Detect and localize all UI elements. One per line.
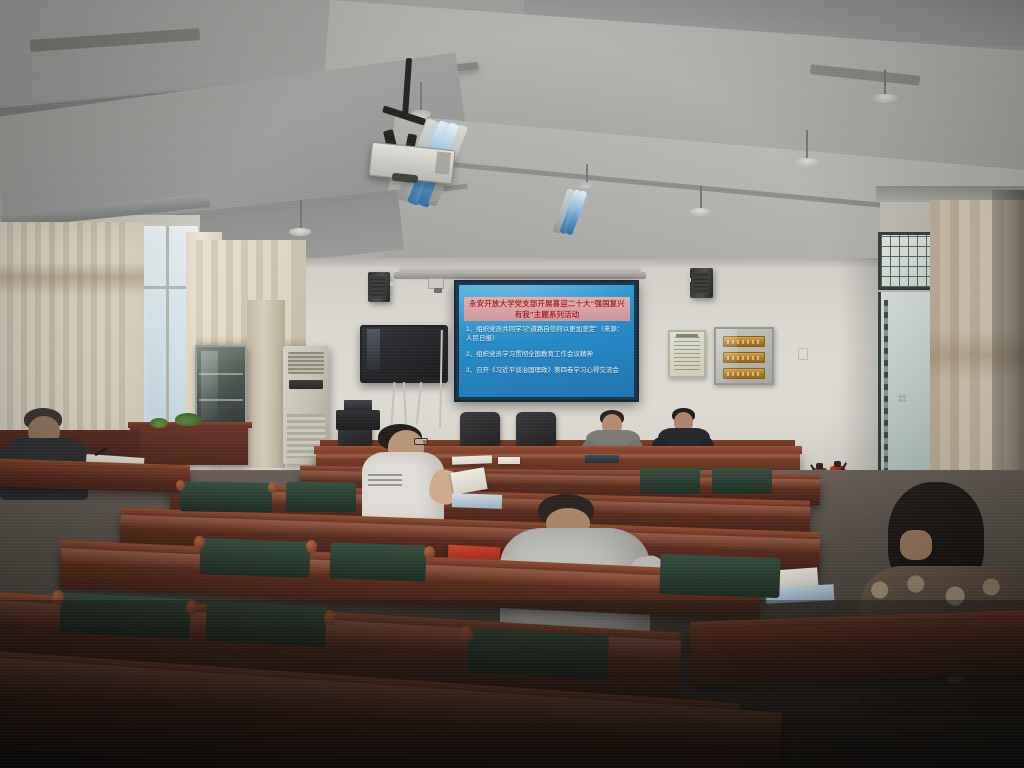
eyeglasses <box>414 438 428 445</box>
tv-glare <box>367 329 380 370</box>
light-canopy <box>872 94 898 103</box>
glass-display-cabinet[interactable] <box>195 345 247 427</box>
potted-plant <box>175 413 201 426</box>
head <box>900 530 932 560</box>
speaker-bracket <box>686 278 691 282</box>
wall-mounted-flat-screen-tv <box>360 325 448 383</box>
bench-seat-back[interactable] <box>199 538 310 578</box>
door-handle[interactable] <box>884 300 888 470</box>
slide-title: 永安开放大学党支部开展喜迎二十大“强国复兴有我”主题系列活动 <box>464 297 630 321</box>
light-stem <box>806 130 808 160</box>
av-equipment[interactable] <box>344 400 372 411</box>
cabinet-glass-reflection <box>201 351 218 420</box>
bench-knob <box>424 546 435 559</box>
light-canopy <box>794 158 820 167</box>
award-plaque-display-case <box>714 327 774 385</box>
bench-seat-back[interactable] <box>329 542 426 581</box>
bench-seat-back[interactable] <box>659 554 780 598</box>
meeting-room-photo: 永安开放大学党支部开展喜迎二十大“强国复兴有我”主题系列活动 1、组织党员共同学… <box>0 0 1024 768</box>
wooden-cabinet <box>130 425 248 465</box>
projection-screen-surface: 永安开放大学党支部开展喜迎二十大“强国复兴有我”主题系列活动 1、组织党员共同学… <box>459 285 634 397</box>
av-equipment[interactable] <box>336 410 380 430</box>
bench-knob <box>268 482 277 493</box>
curtain-fold-shadow <box>0 262 144 296</box>
potted-plant <box>150 418 168 428</box>
bench-seat-back[interactable] <box>712 468 772 494</box>
paper-document[interactable] <box>498 457 520 464</box>
tv-screen <box>362 327 446 378</box>
bench-knob <box>194 536 205 549</box>
bench-seat-back[interactable] <box>180 481 273 513</box>
slide-item-2: 2、组织党员学习贯彻全国教育工作会议精神 <box>466 350 629 359</box>
wall-pillar <box>247 300 285 468</box>
paper-document[interactable] <box>452 455 492 464</box>
floor-shadow <box>0 600 1024 768</box>
laptop-or-monitor[interactable] <box>585 455 619 463</box>
bench-seat-back[interactable] <box>286 481 357 512</box>
projection-screen: 永安开放大学党支部开展喜迎二十大“强国复兴有我”主题系列活动 1、组织党员共同学… <box>454 280 639 402</box>
slide-body: 1、组织党员共同学习“道路自信何以更加坚定”（来源：人民日报） 2、组织党员学习… <box>466 325 629 382</box>
case-glass-reflection <box>716 329 737 383</box>
light-stem <box>300 200 302 230</box>
slide-item-3: 3、召开《习近平谈治国理政》第四卷学习心得交流会 <box>466 366 629 375</box>
light-stem <box>700 186 702 210</box>
bench-knob <box>306 540 317 553</box>
office-chair[interactable] <box>460 412 500 446</box>
bench-seat-back[interactable] <box>640 468 700 494</box>
tshirt-print <box>368 472 402 486</box>
wall-mounted-loudspeaker <box>368 272 390 302</box>
light-stem <box>884 70 886 96</box>
speaker-bracket <box>390 282 396 286</box>
notice-text-lines <box>674 337 700 372</box>
door-glass-marking: ⌗ <box>898 390 920 412</box>
slide-item-1: 1、组织党员共同学习“道路自信何以更加坚定”（来源：人民日报） <box>466 325 629 343</box>
light-canopy <box>289 228 311 236</box>
bench-knob <box>176 480 185 491</box>
office-chair[interactable] <box>516 412 556 446</box>
wall-mounted-loudspeaker <box>690 268 713 298</box>
framed-notice-board <box>668 330 706 378</box>
blue-document-folder[interactable] <box>452 493 502 509</box>
light-switch-plate[interactable] <box>798 348 808 360</box>
wall-mount-arm <box>434 288 442 293</box>
light-canopy <box>689 208 711 216</box>
